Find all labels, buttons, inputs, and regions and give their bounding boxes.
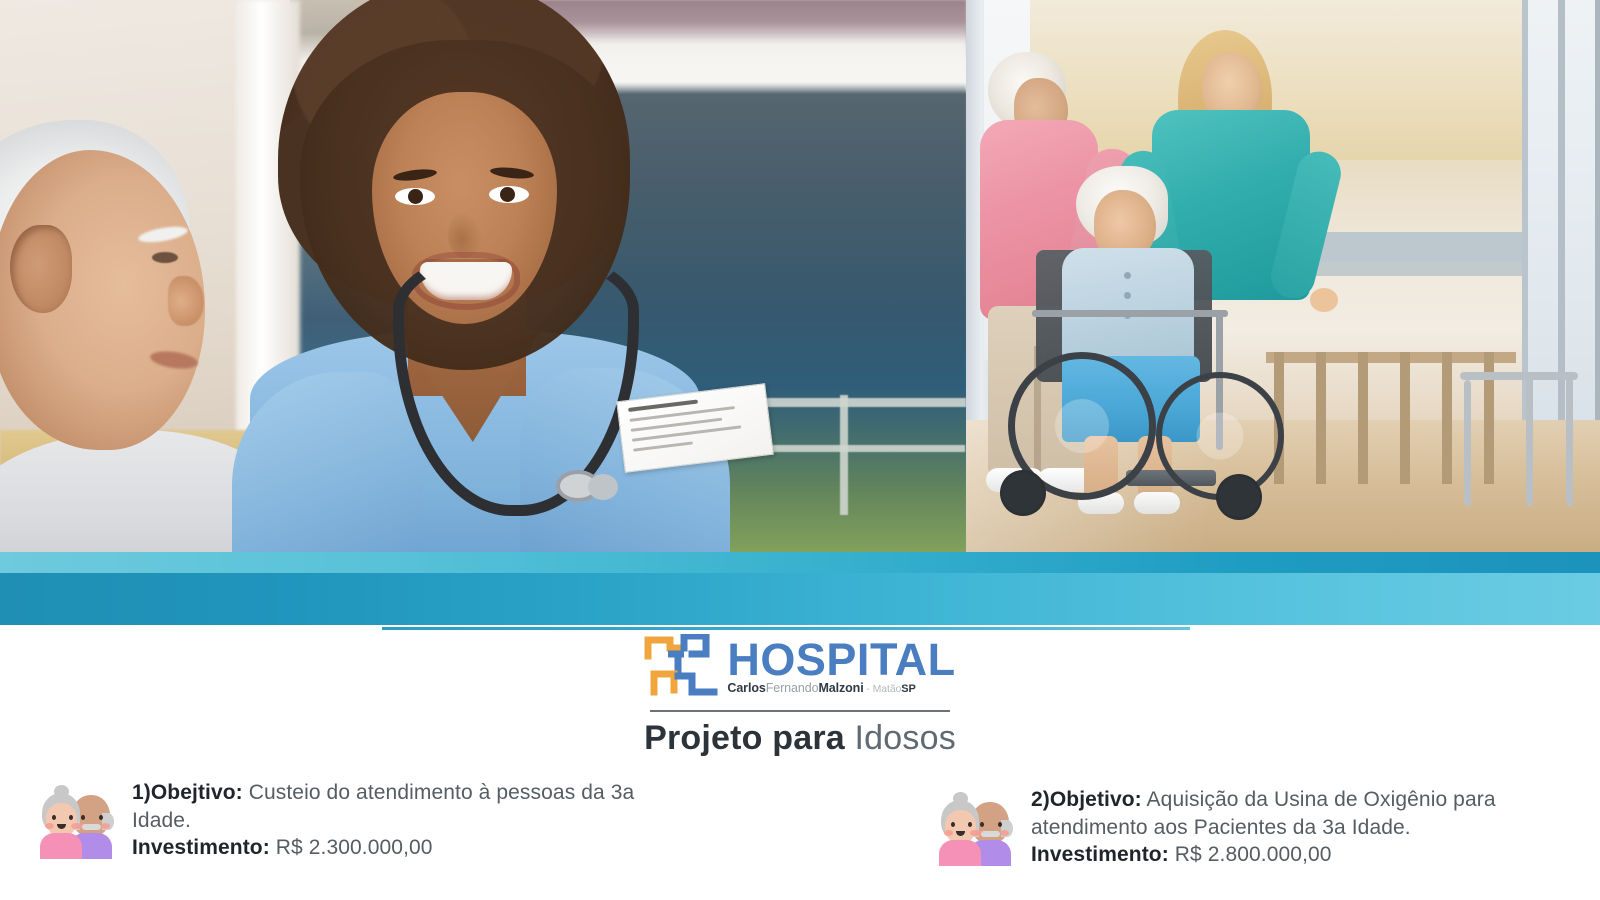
waiting-chair-rail	[1266, 352, 1516, 363]
grandma-eye	[69, 815, 73, 820]
waiting-chair-leg	[1358, 352, 1368, 484]
logo-tagline-first: Carlos	[727, 681, 765, 695]
elderly-couple-emoji	[935, 786, 1013, 864]
grandpa-eye	[81, 815, 85, 820]
elderly-man-nose	[168, 276, 204, 326]
pushing-nurse-hand-right	[1310, 288, 1338, 312]
logo-tagline-second: Fernando	[766, 681, 819, 695]
grandma-eye	[52, 815, 56, 820]
waiting-chair-leg	[1400, 352, 1410, 484]
teal-band-bottom	[0, 573, 1600, 625]
wheelchair-caster-wheel	[1000, 470, 1046, 516]
logo-tagline-dash: -	[864, 683, 873, 695]
badge-line	[628, 399, 698, 412]
grandpa-eye	[998, 822, 1002, 827]
grandpa-blush	[1000, 830, 1009, 836]
page-title: Projeto para Idosos	[0, 718, 1600, 759]
elderly-couple-emoji	[36, 779, 114, 857]
objective-2-label: Objetivo:	[1050, 788, 1142, 811]
photo-strip	[0, 0, 1600, 552]
logo-tagline-city: Matão	[873, 683, 902, 695]
walker-frame-leg	[1464, 380, 1471, 506]
grandma-face	[945, 810, 976, 844]
objective-1-investment-label: Investimento:	[132, 836, 270, 859]
objective-1-label: Obejtivo:	[151, 781, 243, 804]
objective-block-2: 2)Objetivo: Aquisição da Usina de Oxigên…	[935, 782, 1575, 869]
objective-2-investment-value: R$ 2.800.000,00	[1169, 843, 1332, 866]
grandma-blush	[944, 830, 953, 836]
page-title-bold: Projeto para	[644, 719, 845, 757]
objective-2-investment-label: Investimento:	[1031, 843, 1169, 866]
objective-2-number: 2)	[1031, 788, 1050, 811]
accent-rule	[382, 627, 1190, 630]
hospital-logo: HOSPITAL CarlosFernandoMalzoni - MatãoSP	[0, 634, 1600, 696]
wheelchair-caster-wheel	[1216, 474, 1262, 520]
grandma-eye	[951, 822, 955, 827]
hospital-h-logo-mark	[644, 634, 718, 696]
grandpa-eye	[980, 822, 984, 827]
stethoscope-bell-secondary	[588, 474, 618, 500]
logo-tagline: CarlosFernandoMalzoni - MatãoSP	[727, 682, 915, 696]
grandpa-moustache	[82, 824, 101, 830]
objective-1-number: 1)	[132, 781, 151, 804]
grandma-blush	[71, 823, 80, 829]
seated-elderly-woman-shoe	[1134, 492, 1180, 514]
wheelchair-armrest	[1032, 310, 1228, 317]
nurse-pupil-left	[408, 189, 423, 204]
grandpa-eye	[99, 815, 103, 820]
walker-frame-bar	[1460, 372, 1578, 380]
title-divider	[650, 710, 950, 712]
page-title-light: Idosos	[845, 719, 956, 757]
walker-frame-leg	[1566, 378, 1573, 506]
grandma-blush	[970, 830, 979, 836]
grandpa-moustache	[981, 831, 1000, 837]
grandma-blush	[45, 823, 54, 829]
objective-2-text: 2)Objetivo: Aquisição da Usina de Oxigên…	[1031, 782, 1575, 869]
nurse-with-elderly-man-photo	[0, 0, 966, 552]
waiting-chair-leg	[1442, 352, 1452, 484]
photo-railing-post	[840, 395, 848, 515]
grandma-face	[46, 803, 77, 837]
grandma-eye	[968, 822, 972, 827]
corridor-window-mullion	[1558, 0, 1565, 470]
badge-line	[633, 441, 693, 451]
waiting-chair-leg	[1316, 352, 1326, 484]
blouse-button	[1124, 292, 1131, 299]
elderly-man-eye	[152, 252, 178, 263]
blouse-button	[1124, 272, 1131, 279]
logo-tagline-third: Malzoni	[818, 681, 863, 695]
wheelchair-wheel	[1156, 372, 1284, 500]
grandma-body	[40, 833, 82, 859]
grandpa-blush	[101, 823, 110, 829]
grandma-body	[939, 840, 981, 866]
logo-tagline-state: SP	[901, 683, 915, 695]
walker-frame-leg	[1526, 374, 1533, 506]
elderly-man-ear	[10, 225, 72, 313]
objective-1-investment-value: R$ 2.300.000,00	[270, 836, 433, 859]
teal-band-top	[0, 552, 1600, 573]
logo-wordmark: HOSPITAL	[727, 638, 955, 681]
nurse-pupil-right	[500, 187, 515, 202]
nurse-pushing-wheelchair-photo	[966, 0, 1600, 552]
objective-1-text: 1)Obejtivo: Custeio do atendimento à pes…	[132, 775, 636, 862]
objective-block-1: 1)Obejtivo: Custeio do atendimento à pes…	[36, 775, 636, 862]
